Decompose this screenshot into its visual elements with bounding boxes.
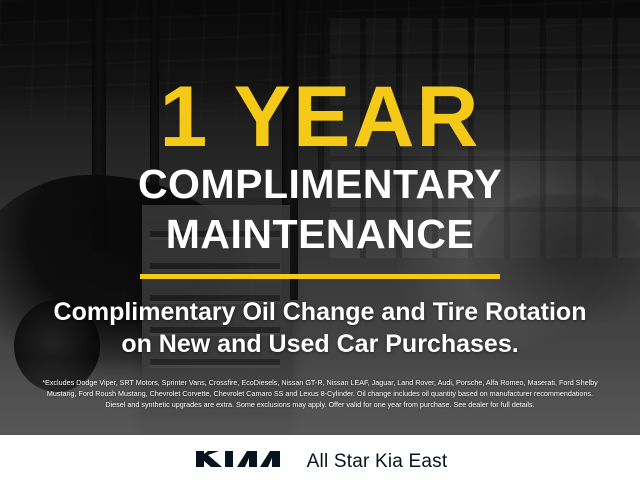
headline-secondary-line2: MAINTENANCE [166, 213, 474, 256]
disclaimer-line-3: Diesel and synthetic upgrades are extra.… [12, 399, 628, 410]
disclaimer-text: *Excludes Dodge Viper, SRT Motors, Sprin… [0, 377, 640, 410]
dealer-name: All Star Kia East [307, 451, 448, 473]
headline-secondary-line1: COMPLIMENTARY [138, 163, 502, 206]
disclaimer-line-2: Mustang, Ford Roush Mustang, Chevrolet C… [12, 388, 628, 399]
banner-content: 1 YEAR COMPLIMENTARY MAINTENANCE Complim… [0, 0, 640, 488]
kia-logo-icon [193, 446, 289, 477]
offer-text: Complimentary Oil Change and Tire Rotati… [54, 297, 587, 360]
kia-promo-banner: 1 YEAR COMPLIMENTARY MAINTENANCE Complim… [0, 0, 640, 488]
headline-primary: 1 YEAR [159, 78, 480, 157]
offer-line-2: on New and Used Car Purchases. [54, 329, 587, 361]
dealer-footer: All Star Kia East [0, 435, 640, 488]
disclaimer-line-1: *Excludes Dodge Viper, SRT Motors, Sprin… [12, 377, 628, 388]
offer-line-1: Complimentary Oil Change and Tire Rotati… [54, 297, 587, 329]
accent-divider [140, 274, 500, 279]
